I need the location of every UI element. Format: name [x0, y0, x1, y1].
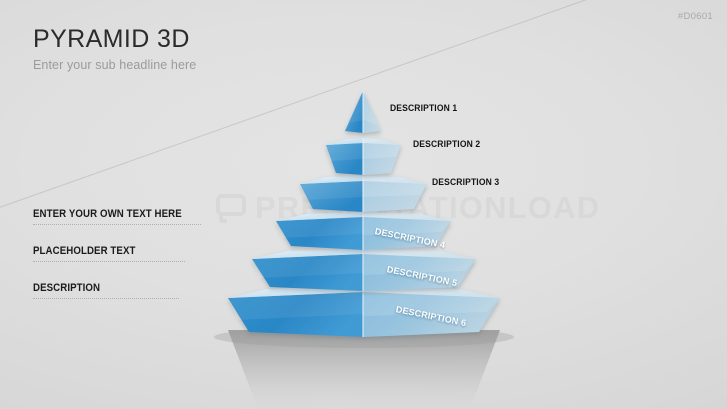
- pyramid-level-2[interactable]: [326, 138, 401, 175]
- entry-label[interactable]: ENTER YOUR OWN TEXT HERE: [33, 208, 209, 220]
- page-title: PYRAMID 3D: [33, 26, 196, 52]
- header-block: PYRAMID 3D Enter your sub headline here: [33, 26, 196, 72]
- pyramid-level-3[interactable]: [300, 176, 427, 212]
- pyramid-level-1[interactable]: [345, 91, 381, 133]
- pyramid-level-6[interactable]: [228, 286, 500, 337]
- list-item[interactable]: DESCRIPTION: [33, 282, 233, 299]
- entry-underline: [33, 261, 185, 262]
- pyramid-label-1[interactable]: DESCRIPTION 1: [390, 103, 457, 114]
- pyramid-ground-shadow: [214, 326, 514, 409]
- entry-label[interactable]: DESCRIPTION: [33, 282, 209, 294]
- pyramid-label-3[interactable]: DESCRIPTION 3: [432, 177, 499, 188]
- list-item[interactable]: ENTER YOUR OWN TEXT HERE: [33, 208, 233, 225]
- entry-underline: [33, 298, 179, 299]
- list-item[interactable]: PLACEHOLDER TEXT: [33, 245, 233, 262]
- page-subtitle[interactable]: Enter your sub headline here: [33, 58, 196, 72]
- slide-canvas: #D0601 PYRAMID 3D Enter your sub headlin…: [0, 0, 727, 409]
- entry-label[interactable]: PLACEHOLDER TEXT: [33, 245, 209, 257]
- document-id: #D0601: [678, 11, 713, 22]
- pyramid-label-2[interactable]: DESCRIPTION 2: [413, 139, 480, 150]
- text-entry-list: ENTER YOUR OWN TEXT HERE PLACEHOLDER TEX…: [33, 208, 233, 319]
- entry-underline: [33, 224, 201, 225]
